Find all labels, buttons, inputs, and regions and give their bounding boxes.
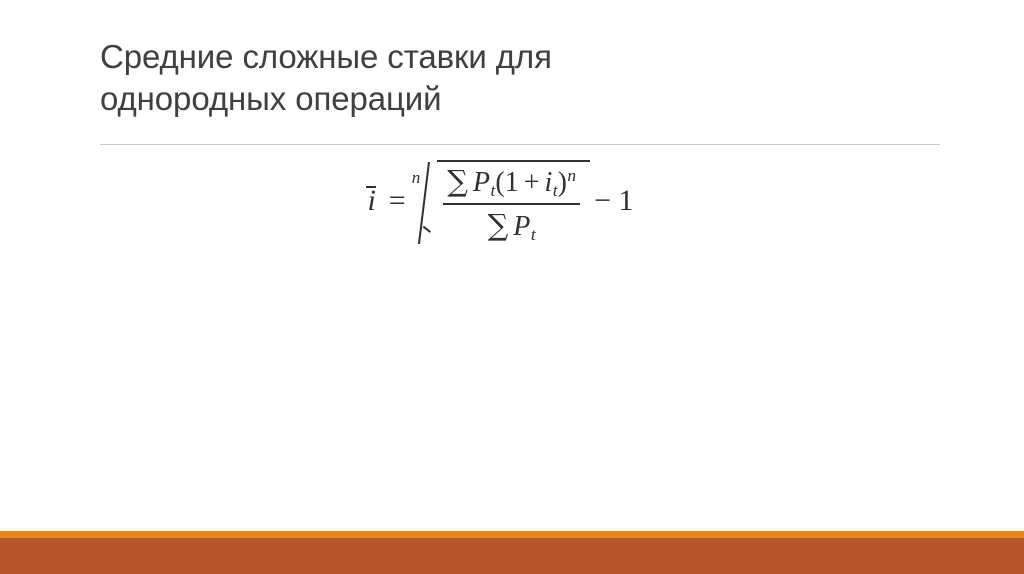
denominator-p-subscript: t [530,225,535,244]
numerator-open-paren: ( [495,167,504,198]
formula-left-hand-side: i = [366,184,411,218]
radicand: ∑Pt(1+it)n ∑Pt [437,158,590,244]
fraction-numerator: ∑Pt(1+it)n [443,165,580,203]
summation-icon-denominator: ∑ [488,208,509,242]
numerator-one: 1 [505,167,519,198]
mean-rate-variable: i [366,184,376,218]
title-line-2: однородных операций [100,78,800,120]
slide-canvas: Средние сложные ставки для однородных оп… [0,0,1024,574]
footer-accent-bar [0,531,1024,538]
numerator-rate-i: i [544,167,552,198]
math-formula: i = n ∑Pt(1+it)n ∑Pt [366,158,633,244]
numerator-exponent-n: n [567,166,576,185]
fraction-denominator: ∑Pt [484,205,540,244]
formula-trailing-term: − 1 [594,184,633,218]
fraction: ∑Pt(1+it)n ∑Pt [443,165,580,244]
footer-main-bar [0,538,1024,574]
radical-index: n [412,168,421,188]
formula-container: i = n ∑Pt(1+it)n ∑Pt [0,158,1024,244]
denominator-p: P [513,211,530,242]
numerator-plus: + [524,167,540,198]
radical-sign: ∑Pt(1+it)n ∑Pt [421,158,590,244]
title-divider [100,144,940,145]
numerator-p: P [473,167,490,198]
page-title: Средние сложные ставки для однородных оп… [100,36,800,120]
title-line-1: Средние сложные ставки для [100,36,800,78]
radical-hook-icon [421,158,437,244]
equals-sign: = [389,184,406,218]
summation-icon-numerator: ∑ [447,164,468,198]
